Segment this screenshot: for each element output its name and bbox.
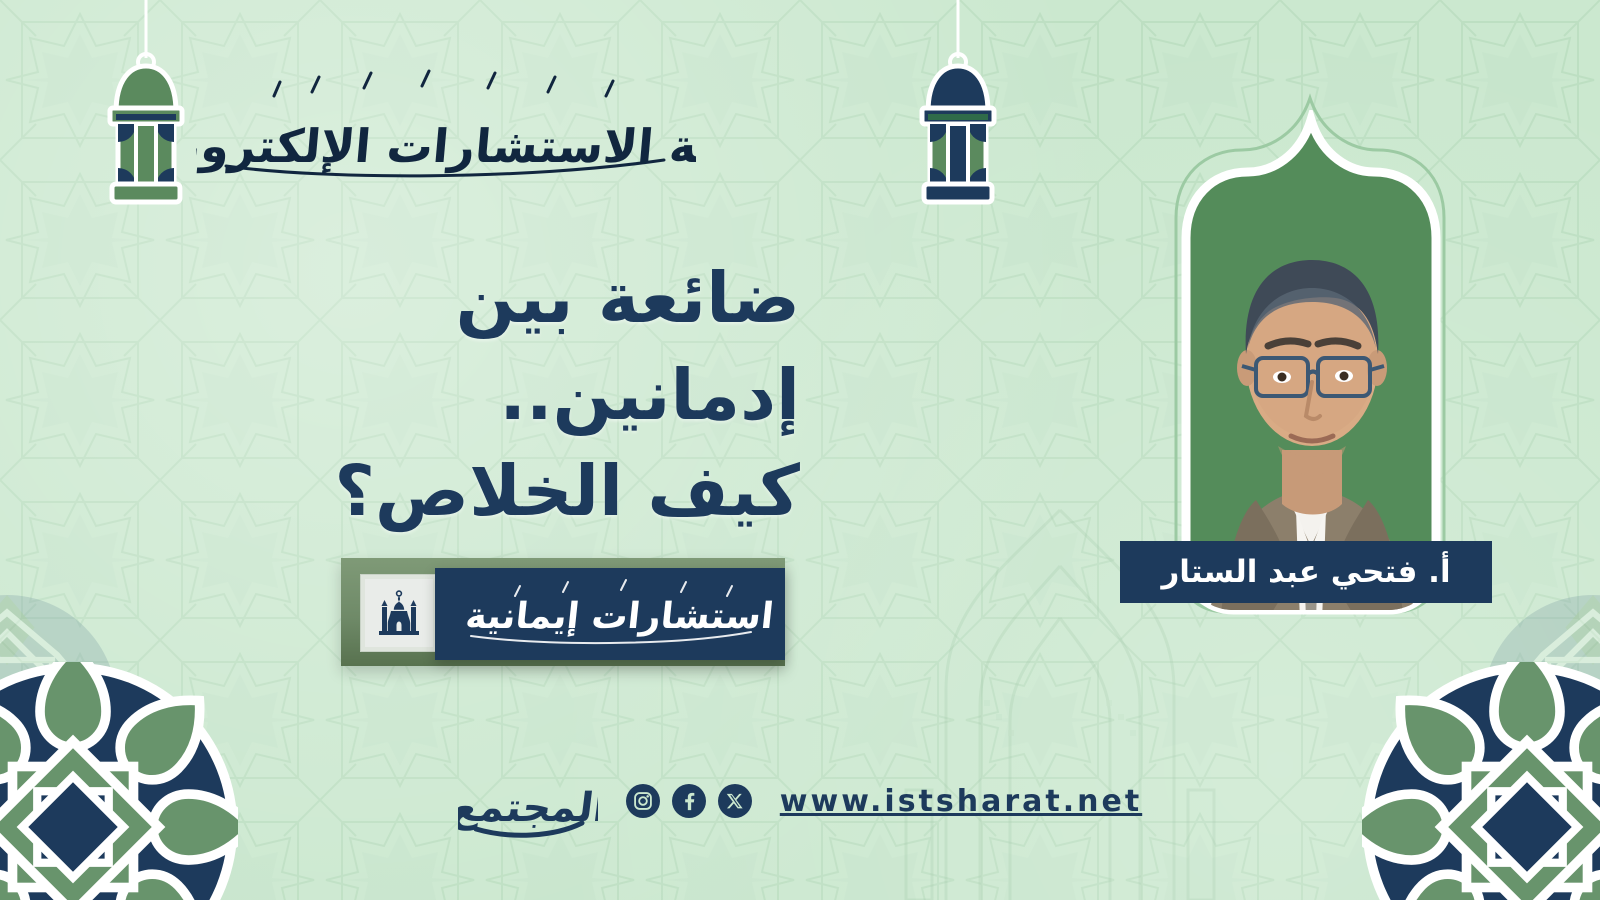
instagram-icon [633,791,653,811]
social-link-facebook[interactable] [672,784,706,818]
page-title: ضائعة بين إدمانين.. كيف الخلاص؟ [160,250,800,540]
x-twitter-icon [726,792,744,810]
social-link-x[interactable] [718,784,752,818]
social-links [626,784,752,818]
program-icon-card [360,574,438,652]
program-title-banner: استشارات إيمانية [435,568,785,660]
program-banner: استشارات إيمانية [341,558,785,666]
speaker-name: أ. فتحي عبد الستار [1161,554,1450,590]
social-link-instagram[interactable] [626,784,660,818]
mosque-icon [373,587,425,639]
header-calligraphy: بوابة الاستشارات الإلكترونية [196,62,696,202]
poster-canvas: بوابة الاستشارات الإلكترونية ضائعة بين إ… [0,0,1600,900]
website-url[interactable]: www.istsharat.net [780,784,1142,819]
lantern-left [100,0,192,210]
title-line-1: ضائعة بين إدمانين.. [456,257,800,436]
footer: المجتمع www.istsha [0,756,1600,846]
facebook-icon [679,791,699,811]
title-line-2: كيف الخلاص؟ [160,443,800,540]
program-name: استشارات إيمانية [464,595,775,637]
magazine-logo: المجتمع [458,755,598,847]
speaker-name-bar: أ. فتحي عبد الستار [1120,541,1492,603]
lantern-right [912,0,1004,210]
